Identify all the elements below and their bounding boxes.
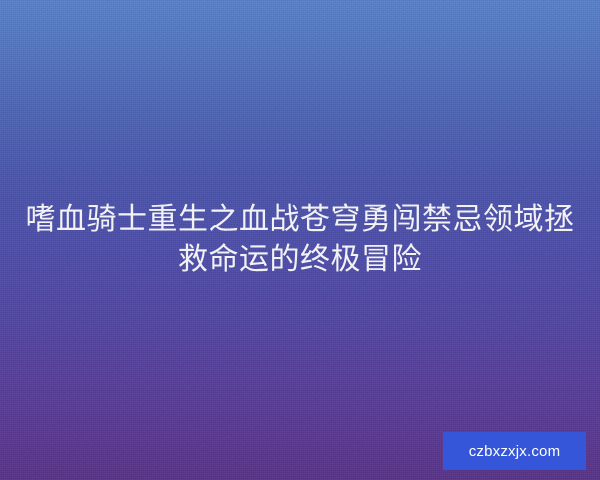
title-card-canvas: 嗜血骑士重生之血战苍穹勇闯禁忌领域拯救命运的终极冒险 czbxzxjx.com — [0, 0, 600, 480]
watermark-label: czbxzxjx.com — [469, 444, 561, 459]
title-container: 嗜血骑士重生之血战苍穹勇闯禁忌领域拯救命运的终极冒险 — [0, 0, 600, 480]
page-title: 嗜血骑士重生之血战苍穹勇闯禁忌领域拯救命运的终极冒险 — [22, 200, 578, 280]
watermark-badge: czbxzxjx.com — [443, 432, 586, 470]
